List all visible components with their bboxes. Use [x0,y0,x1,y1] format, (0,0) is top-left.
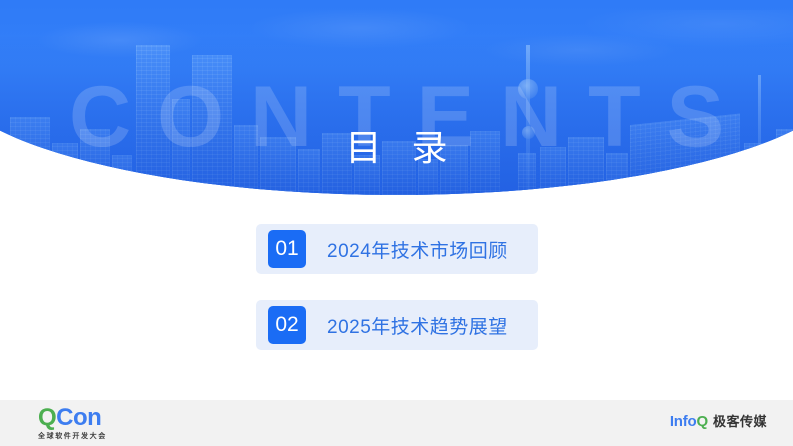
contents-item-01[interactable]: 01 2024年技术市场回顾 [256,224,538,274]
infoq-subtitle: 极客传媒 [713,414,767,429]
presentation-slide: CONTENTS 目 录 01 2024年技术市场回顾 02 2025年技术趋势… [0,0,793,446]
contents-item-number: 01 [268,230,306,268]
qcon-wordmark: QCon [38,406,107,430]
qcon-letters-con: Con [56,404,101,431]
page-title: 目 录 [0,125,793,170]
infoq-logo: InfoQ极客传媒 [670,414,767,430]
contents-item-number: 02 [268,306,306,344]
contents-item-label: 2025年技术趋势展望 [327,312,508,339]
infoq-letter-q: Q [697,413,708,430]
infoq-letters-info: Info [670,413,697,430]
header-banner: CONTENTS 目 录 [0,0,793,200]
contents-item-label: 2024年技术市场回顾 [327,236,508,263]
qcon-letter-q: Q [38,404,56,431]
qcon-subtitle: 全球软件开发大会 [38,433,107,440]
contents-list: 01 2024年技术市场回顾 02 2025年技术趋势展望 [256,224,538,376]
footer-bar: QCon 全球软件开发大会 InfoQ极客传媒 [0,400,793,446]
qcon-logo: QCon 全球软件开发大会 [38,406,107,440]
contents-item-02[interactable]: 02 2025年技术趋势展望 [256,300,538,350]
infoq-wordmark: InfoQ [670,413,708,430]
